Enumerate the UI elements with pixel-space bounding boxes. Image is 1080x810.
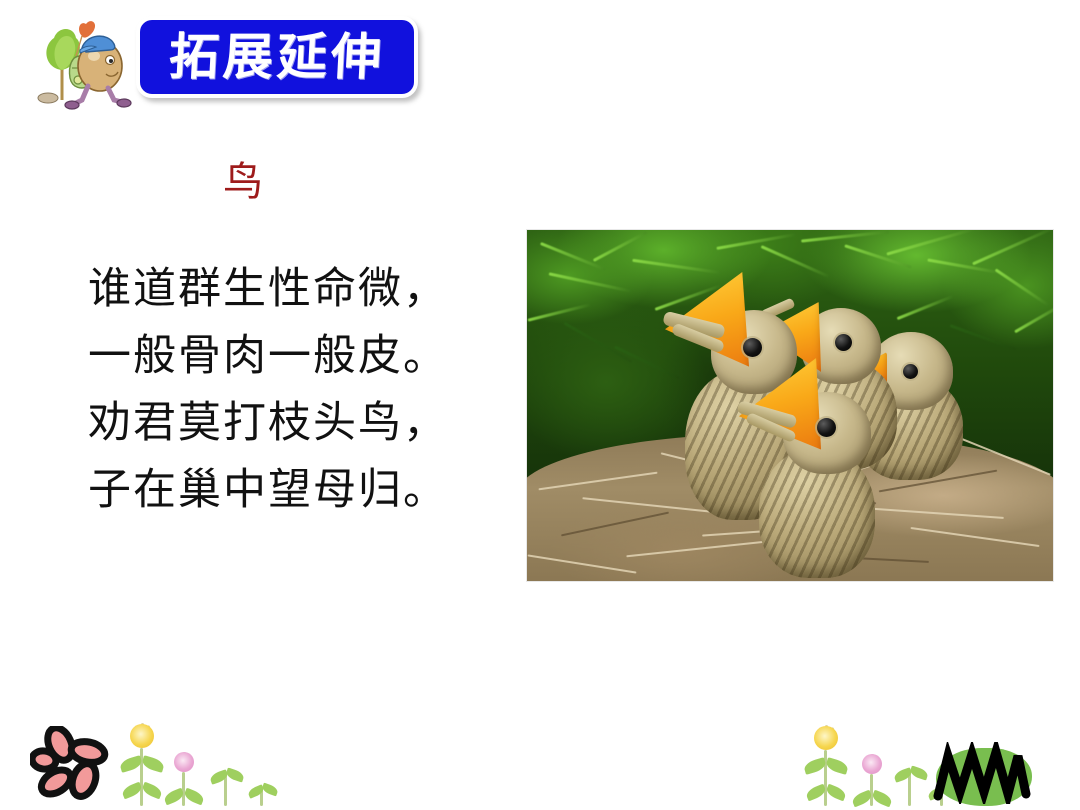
poem-line: 子在巢中望母归。 <box>88 457 488 524</box>
bottom-right-decoration <box>790 714 1066 810</box>
poem-block: 鸟 谁道群生性命微， 一般骨肉一般皮。 劝君莫打枝头鸟， 子在巢中望母归。 <box>88 160 488 524</box>
pink-outline-flower-icon <box>30 726 116 804</box>
poem-line: 劝君莫打枝头鸟， <box>88 390 488 457</box>
grass-zigzag-icon <box>930 742 1042 804</box>
header: 拓展延伸 <box>0 0 1080 120</box>
poem-line: 一般骨肉一般皮。 <box>88 323 488 390</box>
poem-line: 谁道群生性命微， <box>88 256 488 323</box>
section-title-text: 拓展延伸 <box>168 32 387 82</box>
slide-canvas: 拓展延伸 鸟 谁道群生性命微， 一般骨肉一般皮。 劝君莫打枝头鸟， 子在巢中望母… <box>0 0 1080 810</box>
bottom-left-decoration <box>14 714 274 810</box>
walking-egg-character-icon <box>24 12 136 112</box>
poem-title: 鸟 <box>88 160 398 204</box>
baby-birds-photo <box>527 230 1053 581</box>
chick-bird <box>733 352 901 562</box>
section-title-banner: 拓展延伸 <box>136 16 418 98</box>
